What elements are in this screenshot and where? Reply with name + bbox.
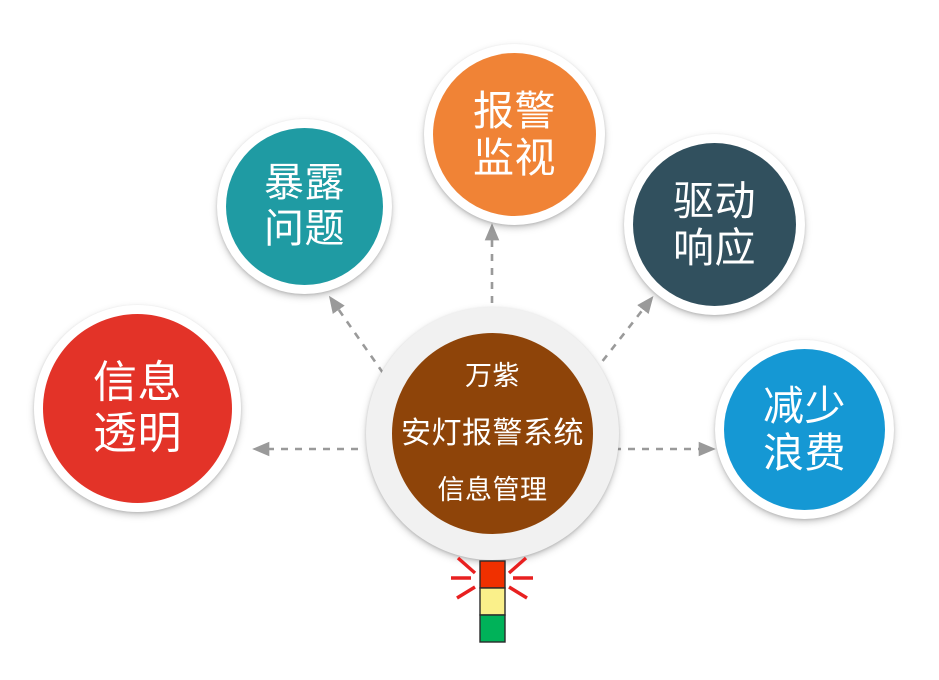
node-info-transparent-label-line1: 信息 xyxy=(93,358,182,408)
yellow-lamp xyxy=(480,588,505,615)
node-drive-response[interactable]: 驱动 响应 xyxy=(624,134,805,315)
andon-lamp-stack xyxy=(480,561,505,642)
diagram-canvas: 报警 监视 暴露 问题 驱动 响应 信息 透明 减少 浪费 万紫 安 xyxy=(0,0,939,680)
green-lamp xyxy=(480,615,505,642)
node-center-hub[interactable]: 万紫 安灯报警系统 信息管理 xyxy=(366,307,619,560)
node-expose-problem[interactable]: 暴露 问题 xyxy=(217,119,392,294)
node-expose-problem-disc: 暴露 问题 xyxy=(226,128,383,285)
node-alarm-monitor-disc: 报警 监视 xyxy=(433,53,596,216)
node-reduce-waste-label-line2: 浪费 xyxy=(763,430,846,477)
node-alarm-monitor-label-line1: 报警 xyxy=(473,88,556,135)
node-reduce-waste[interactable]: 减少 浪费 xyxy=(715,340,894,519)
node-info-transparent-disc: 信息 透明 xyxy=(43,314,232,503)
andon-light-tower xyxy=(437,548,547,653)
node-alarm-monitor-label-line2: 监视 xyxy=(473,135,556,182)
node-alarm-monitor[interactable]: 报警 监视 xyxy=(424,44,605,225)
node-reduce-waste-disc: 减少 浪费 xyxy=(724,349,885,510)
node-drive-response-label-line1: 驱动 xyxy=(673,178,756,225)
hub-label-line1: 万紫 xyxy=(465,363,520,390)
arrow-hub-to-drive-response xyxy=(594,303,648,372)
node-info-transparent-label-line2: 透明 xyxy=(93,409,182,459)
node-drive-response-label-line2: 响应 xyxy=(673,225,756,272)
hub-label-line2: 安灯报警系统 xyxy=(401,419,584,449)
arrow-hub-to-expose-problem xyxy=(334,303,383,373)
node-expose-problem-label-line2: 问题 xyxy=(264,207,345,253)
red-lamp xyxy=(480,561,505,588)
node-info-transparent[interactable]: 信息 透明 xyxy=(34,305,241,512)
node-expose-problem-label-line1: 暴露 xyxy=(264,161,345,207)
node-reduce-waste-label-line1: 减少 xyxy=(763,383,846,430)
node-drive-response-disc: 驱动 响应 xyxy=(633,143,796,306)
hub-label-line3: 信息管理 xyxy=(438,477,548,504)
node-center-hub-disc: 万紫 安灯报警系统 信息管理 xyxy=(392,333,593,534)
